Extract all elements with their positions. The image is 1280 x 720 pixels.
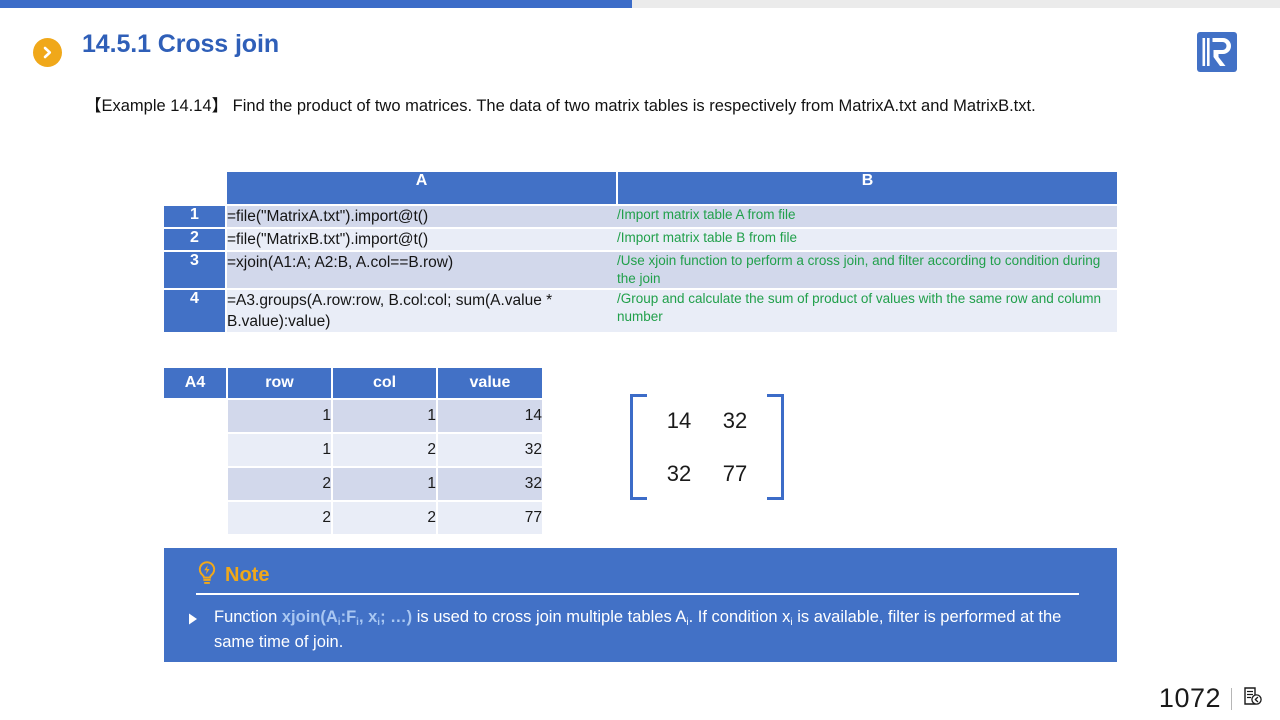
result-header-value: value <box>437 368 542 399</box>
progress-bar-fill <box>0 0 632 8</box>
result-cell-row: 2 <box>227 501 332 534</box>
code-cell-b: /Group and calculate the sum of product … <box>617 289 1117 332</box>
result-header-col: col <box>332 368 437 399</box>
code-cell-b: /Import matrix table A from file <box>617 205 1117 228</box>
result-gutter-cell <box>164 399 227 433</box>
chevron-right-circle-icon <box>33 38 62 67</box>
result-cell-col: 1 <box>332 467 437 501</box>
table-row: 3 =xjoin(A1:A; A2:B, A.col==B.row) /Use … <box>164 251 1117 289</box>
note-text-mid: is used to cross join multiple tables A <box>412 608 686 626</box>
code-table-corner-cell <box>164 172 226 205</box>
result-cell-value: 14 <box>437 399 542 433</box>
result-gutter-cell <box>164 501 227 534</box>
result-cell-col: 2 <box>332 433 437 467</box>
table-row: 1 1 14 <box>164 399 542 433</box>
result-table-header-row: A4 row col value <box>164 368 542 399</box>
note-divider <box>196 593 1079 595</box>
matrix-right-bracket <box>767 394 784 500</box>
code-cell-a: =A3.groups(A.row:row, B.col:col; sum(A.v… <box>226 289 617 332</box>
note-function-name: xjoin(Ai:Fi, xi; …) <box>282 608 412 626</box>
result-cell-col: 1 <box>332 399 437 433</box>
slide-header: 14.5.1 Cross join <box>0 30 1280 84</box>
matrix-cell: 32 <box>667 461 691 487</box>
result-cell-row: 2 <box>227 467 332 501</box>
raqsoft-r-logo <box>1196 31 1238 73</box>
note-text-mid2: . If condition x <box>689 608 791 626</box>
note-title: Note <box>225 564 269 587</box>
result-cell-row: 1 <box>227 399 332 433</box>
example-label: 【Example 14.14】 <box>85 97 228 115</box>
code-row-number: 2 <box>164 228 226 251</box>
code-table-header-b: B <box>617 172 1117 205</box>
code-table: A B 1 =file("MatrixA.txt").import@t() /I… <box>164 172 1117 332</box>
triangle-right-bullet-icon <box>188 612 198 654</box>
table-row: 2 1 32 <box>164 467 542 501</box>
code-cell-a: =file("MatrixA.txt").import@t() <box>226 205 617 228</box>
code-table-header-a: A <box>226 172 617 205</box>
result-cell-value: 32 <box>437 467 542 501</box>
page-title: 14.5.1 Cross join <box>82 30 279 59</box>
footer: 1072 <box>1159 683 1262 714</box>
result-table: A4 row col value 1 1 14 1 2 32 2 1 32 2 … <box>164 368 542 534</box>
note-header: Note <box>196 560 269 591</box>
matrix-left-bracket <box>630 394 647 500</box>
table-row: 1 =file("MatrixA.txt").import@t() /Impor… <box>164 205 1117 228</box>
matrix-cell: 77 <box>723 461 747 487</box>
note-text-prefix: Function <box>214 608 282 626</box>
example-paragraph: 【Example 14.14】 Find the product of two … <box>80 94 1140 119</box>
note-sub-a: i <box>686 617 688 628</box>
code-row-number: 3 <box>164 251 226 289</box>
code-cell-b: /Use xjoin function to perform a cross j… <box>617 251 1117 289</box>
document-back-icon[interactable] <box>1242 686 1262 711</box>
matrix-grid: 14 32 32 77 <box>647 394 767 500</box>
note-sub-x: i <box>790 617 792 628</box>
result-cell-value: 77 <box>437 501 542 534</box>
note-box: Note Function xjoin(Ai:Fi, xi; …) is use… <box>164 548 1117 662</box>
example-body: Find the product of two matrices. The da… <box>233 97 1036 115</box>
result-cell-value: 32 <box>437 433 542 467</box>
page-number: 1072 <box>1159 683 1221 714</box>
matrix-cell: 14 <box>667 408 691 434</box>
code-cell-a: =file("MatrixB.txt").import@t() <box>226 228 617 251</box>
lightbulb-icon <box>196 560 218 591</box>
result-gutter-cell <box>164 467 227 501</box>
result-header-row: row <box>227 368 332 399</box>
progress-bar-track <box>0 0 1280 8</box>
code-row-number: 1 <box>164 205 226 228</box>
table-row: 1 2 32 <box>164 433 542 467</box>
note-text: Function xjoin(Ai:Fi, xi; …) is used to … <box>214 606 1093 654</box>
code-cell-a: =xjoin(A1:A; A2:B, A.col==B.row) <box>226 251 617 289</box>
note-body: Function xjoin(Ai:Fi, xi; …) is used to … <box>188 606 1093 654</box>
matrix-cell: 32 <box>723 408 747 434</box>
result-cell-col: 2 <box>332 501 437 534</box>
table-row: 2 2 77 <box>164 501 542 534</box>
code-cell-b: /Import matrix table B from file <box>617 228 1117 251</box>
code-table-header-row: A B <box>164 172 1117 205</box>
table-row: 4 =A3.groups(A.row:row, B.col:col; sum(A… <box>164 289 1117 332</box>
footer-divider <box>1231 688 1232 710</box>
result-gutter-cell <box>164 433 227 467</box>
code-row-number: 4 <box>164 289 226 332</box>
result-cell-row: 1 <box>227 433 332 467</box>
table-row: 2 =file("MatrixB.txt").import@t() /Impor… <box>164 228 1117 251</box>
result-header-a4: A4 <box>164 368 227 399</box>
result-matrix: 14 32 32 77 <box>630 394 784 500</box>
